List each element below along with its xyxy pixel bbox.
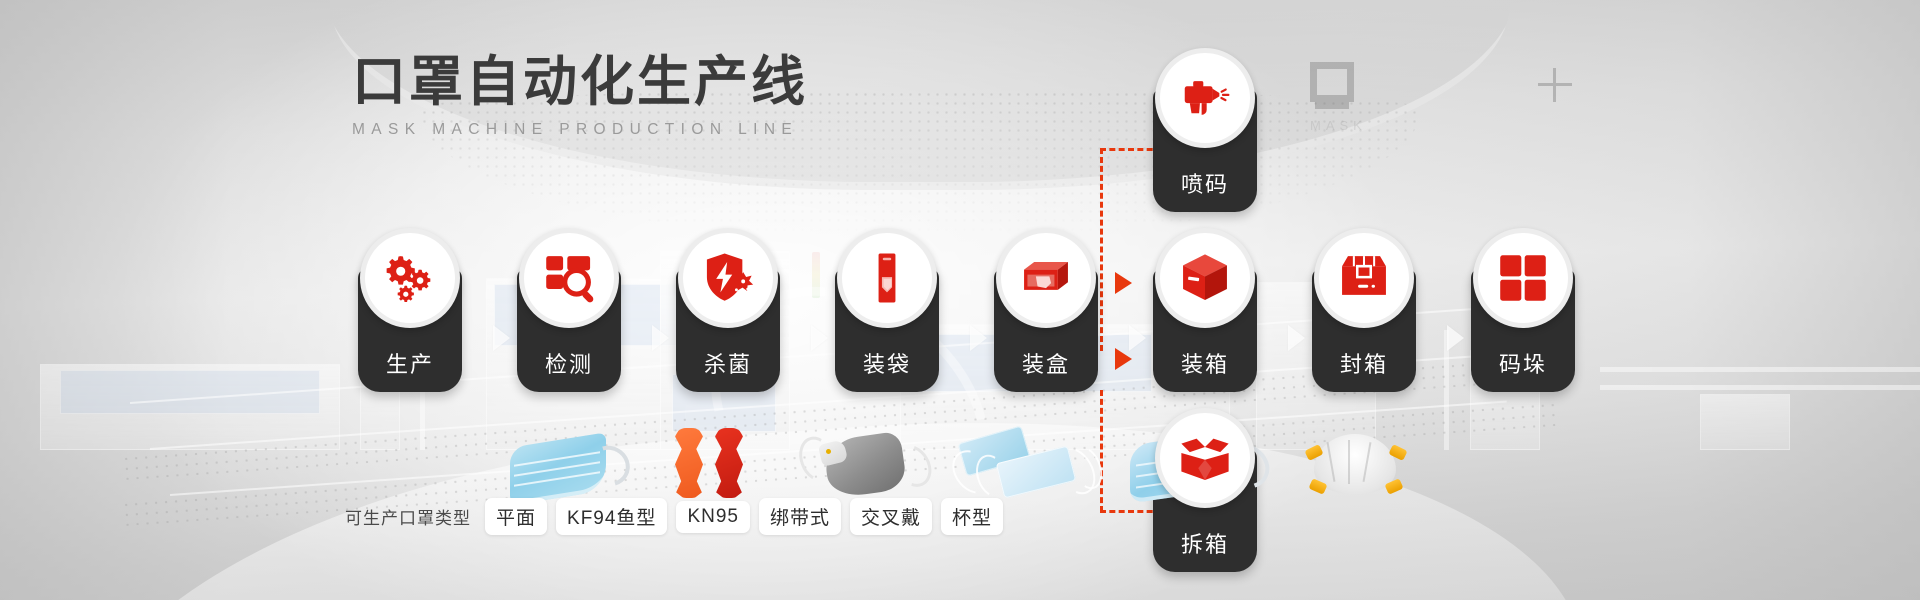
mask-type-chip-cup[interactable]: 杯型 <box>941 498 1003 535</box>
flow-arrow-6 <box>1288 325 1305 351</box>
node-icon-circle <box>360 228 460 328</box>
flow-arrow-2 <box>652 325 669 351</box>
node-icon-circle <box>1155 408 1255 508</box>
plus-crosshair-icon <box>1538 68 1572 102</box>
mask-illustration-kn95-valve <box>800 428 930 498</box>
inkjet-spray-gun-icon <box>1178 71 1232 125</box>
carton-cube-icon <box>1178 251 1232 305</box>
branch-arrow-top <box>1115 272 1132 294</box>
shield-lightning-sterilize-icon <box>701 251 755 305</box>
background-watermark: MASK <box>1310 62 1367 133</box>
page-heading: 口罩自动化生产线 MASK MACHINE PRODUCTION LINE <box>352 52 808 139</box>
node-label: 装箱 <box>1153 347 1257 379</box>
unboxing-open-flaps-icon <box>1178 431 1232 485</box>
mask-type-chip-flat[interactable]: 平面 <box>485 498 547 535</box>
mask-illustration-cup-type <box>1300 430 1410 498</box>
branch-arrow-bottom <box>1115 348 1132 370</box>
node-icon-circle <box>1155 48 1255 148</box>
node-label: 杀菌 <box>676 347 780 379</box>
mask-illustration-surgical-flat <box>510 436 630 498</box>
node-icon-circle <box>996 228 1096 328</box>
flow-arrow-7 <box>1447 325 1464 351</box>
watermark-text: MASK <box>1310 118 1367 133</box>
mask-type-chip-tie-on[interactable]: 绑带式 <box>759 498 841 535</box>
mask-illustration-kf94-fish <box>675 426 755 498</box>
magnifier-inspection-icon <box>542 251 596 305</box>
mask-type-chip-cross[interactable]: 交叉戴 <box>850 498 932 535</box>
flow-arrow-3 <box>811 325 828 351</box>
node-label: 封箱 <box>1312 347 1416 379</box>
node-icon-circle <box>678 228 778 328</box>
mask-type-chip-kn95[interactable]: KN95 <box>676 501 750 533</box>
node-icon-circle <box>519 228 619 328</box>
gears-icon <box>383 251 437 305</box>
node-label: 码垛 <box>1471 347 1575 379</box>
node-icon-circle <box>1314 228 1414 328</box>
flow-arrow-4 <box>970 325 987 351</box>
node-label: 装盒 <box>994 347 1098 379</box>
bagging-pouch-icon <box>860 251 914 305</box>
mask-illustrations <box>500 418 1530 498</box>
flow-arrow-1 <box>493 325 510 351</box>
node-label: 装袋 <box>835 347 939 379</box>
mask-types-label: 可生产口罩类型 <box>345 504 471 529</box>
mask-types-row: 可生产口罩类型 平面 KF94鱼型 KN95 绑带式 交叉戴 杯型 <box>345 498 1012 535</box>
node-icon-circle <box>837 228 937 328</box>
node-icon-circle <box>1155 228 1255 328</box>
mask-type-chip-kf94[interactable]: KF94鱼型 <box>556 498 667 535</box>
watermark-mark-icon <box>1310 62 1354 102</box>
boxing-open-carton-icon <box>1019 251 1073 305</box>
palletizing-grid-icon <box>1496 251 1550 305</box>
node-icon-circle <box>1473 228 1573 328</box>
page-subtitle: MASK MACHINE PRODUCTION LINE <box>352 121 808 139</box>
branch-line-vertical-top <box>1100 148 1103 351</box>
page-title: 口罩自动化生产线 <box>352 52 808 112</box>
mask-illustration-tie-on <box>955 426 1105 498</box>
sealed-carton-icon <box>1337 251 1391 305</box>
node-label: 检测 <box>517 347 621 379</box>
node-label: 拆箱 <box>1153 527 1257 559</box>
node-label: 喷码 <box>1153 167 1257 199</box>
node-label: 生产 <box>358 347 462 379</box>
